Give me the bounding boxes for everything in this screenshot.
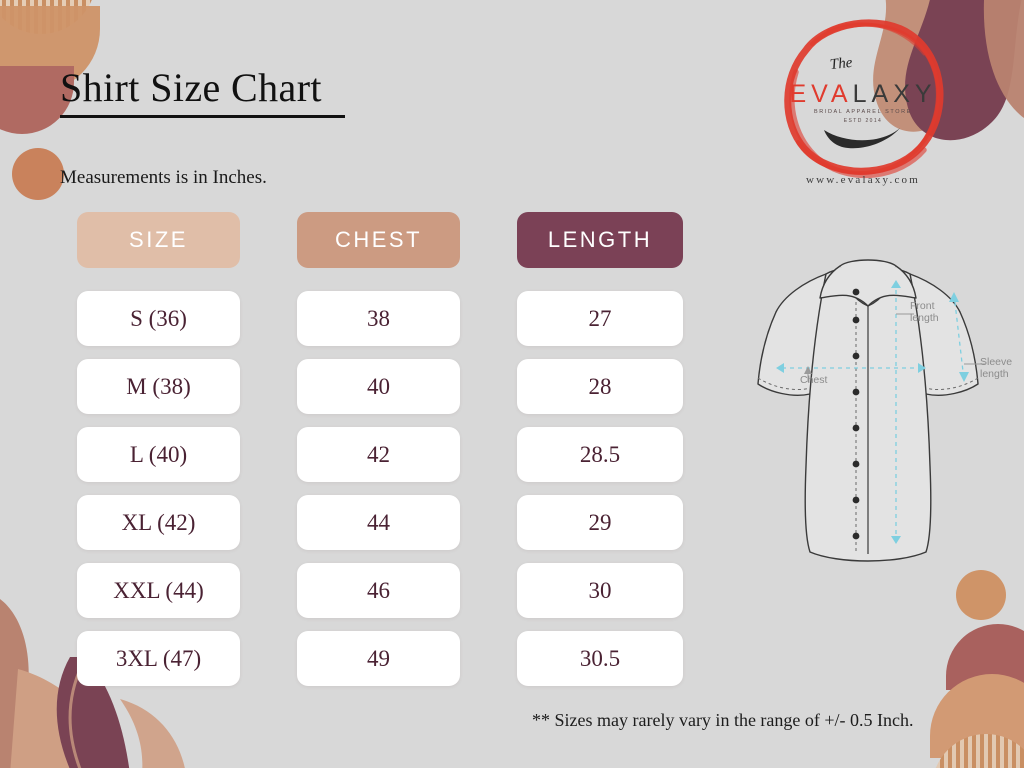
cell-chest: 42: [297, 427, 460, 482]
cell-length: 28: [517, 359, 683, 414]
size-chart-canvas: Shirt Size Chart Measurements is in Inch…: [0, 0, 1024, 768]
size-table: SIZE CHEST LENGTH S (36) 38 27 M (38) 40…: [77, 212, 683, 686]
cell-length: 30.5: [517, 631, 683, 686]
cell-chest: 40: [297, 359, 460, 414]
column-header-length: LENGTH: [517, 212, 683, 268]
logo-the-text: The: [829, 55, 853, 74]
table-row: S (36) 38 27: [77, 291, 683, 346]
cell-size: XL (42): [77, 495, 240, 550]
cell-chest: 49: [297, 631, 460, 686]
column-header-size: SIZE: [77, 212, 240, 268]
table-row: M (38) 40 28: [77, 359, 683, 414]
logo-tagline-line1: BRIDAL APPAREL STORE: [768, 109, 958, 115]
cell-length: 30: [517, 563, 683, 618]
decoration-bottom-right-rose-arc: [946, 624, 1024, 690]
cell-size: 3XL (47): [77, 631, 240, 686]
cell-size: L (40): [77, 427, 240, 482]
table-header-row: SIZE CHEST LENGTH: [77, 212, 683, 268]
cell-chest: 44: [297, 495, 460, 550]
cell-size: S (36): [77, 291, 240, 346]
cell-size: M (38): [77, 359, 240, 414]
shirt-diagram: Frontlength Sleevelength Chest: [718, 252, 1018, 592]
diagram-label-sleeve-length: Sleevelength: [980, 356, 1012, 380]
brand-logo: The EVALAXY BRIDAL APPAREL STORE ESTD 20…: [748, 8, 976, 198]
decoration-top-left-circle: [12, 148, 64, 200]
table-row: 3XL (47) 49 30.5: [77, 631, 683, 686]
title-underline: [60, 115, 345, 118]
size-variation-footnote: ** Sizes may rarely vary in the range of…: [532, 710, 914, 731]
brand-website: www.evalaxy.com: [758, 174, 968, 186]
table-row: XXL (44) 46 30: [77, 563, 683, 618]
cell-size: XXL (44): [77, 563, 240, 618]
logo-wordmark-eva: EVA: [789, 80, 852, 108]
cell-length: 28.5: [517, 427, 683, 482]
diagram-label-front-length: Frontlength: [910, 300, 939, 324]
page-subtitle: Measurements is in Inches.: [60, 167, 267, 189]
decoration-bottom-right-stripe: [932, 734, 1024, 768]
cell-chest: 46: [297, 563, 460, 618]
shirt-illustration-icon: [718, 252, 1018, 592]
column-header-chest: CHEST: [297, 212, 460, 268]
diagram-label-chest: Chest: [800, 374, 827, 386]
decoration-bottom-right-tan-arc: [930, 674, 1024, 758]
logo-wordmark: EVALAXY: [768, 80, 958, 109]
logo-wordmark-laxy: LAXY: [853, 80, 937, 108]
table-row: L (40) 42 28.5: [77, 427, 683, 482]
cell-length: 27: [517, 291, 683, 346]
logo-tagline-line2: ESTD 2014: [768, 118, 958, 124]
cell-length: 29: [517, 495, 683, 550]
table-row: XL (42) 44 29: [77, 495, 683, 550]
page-title: Shirt Size Chart: [60, 66, 322, 110]
cell-chest: 38: [297, 291, 460, 346]
decoration-top-left-stripe: [0, 0, 96, 34]
